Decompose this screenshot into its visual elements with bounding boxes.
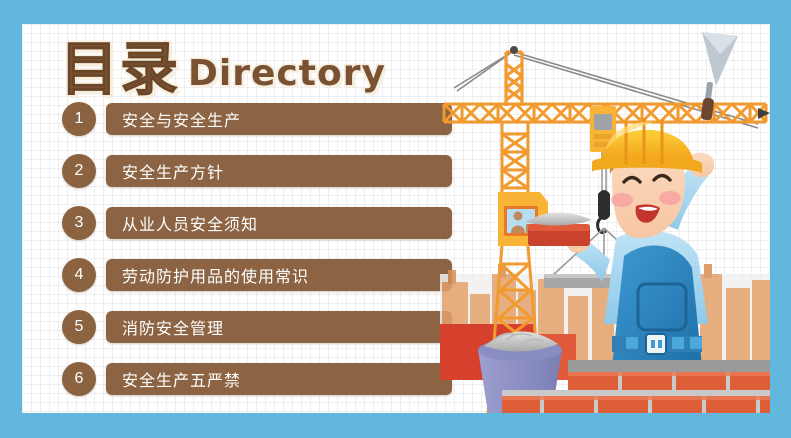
list-item[interactable]: 6 安全生产五严禁 bbox=[62, 362, 452, 396]
crane-pivot bbox=[510, 46, 518, 54]
slide-canvas: 目录 Directory 1 安全与安全生产 2 安全生产方针 3 从业人员安全… bbox=[0, 0, 791, 438]
jib-tip bbox=[758, 108, 770, 119]
worker-body bbox=[604, 231, 708, 366]
grid-paper-background: 目录 Directory 1 安全与安全生产 2 安全生产方针 3 从业人员安全… bbox=[22, 24, 770, 413]
item-number-badge: 2 bbox=[62, 154, 96, 188]
list-item[interactable]: 3 从业人员安全须知 bbox=[62, 206, 452, 240]
list-item[interactable]: 5 消防安全管理 bbox=[62, 310, 452, 344]
title-chinese: 目录 bbox=[60, 40, 180, 98]
item-label-bar[interactable]: 从业人员安全须知 bbox=[106, 207, 452, 239]
item-number-badge: 4 bbox=[62, 258, 96, 292]
item-number-badge: 5 bbox=[62, 310, 96, 344]
item-label-bar[interactable]: 安全与安全生产 bbox=[106, 103, 452, 135]
item-number-badge: 6 bbox=[62, 362, 96, 396]
list-item[interactable]: 1 安全与安全生产 bbox=[62, 102, 452, 136]
list-item[interactable]: 4 劳动防护用品的使用常识 bbox=[62, 258, 452, 292]
construction-illustration bbox=[440, 24, 770, 413]
item-number-badge: 1 bbox=[62, 102, 96, 136]
item-label-bar[interactable]: 安全生产五严禁 bbox=[106, 363, 452, 395]
item-number-badge: 3 bbox=[62, 206, 96, 240]
directory-list: 1 安全与安全生产 2 安全生产方针 3 从业人员安全须知 4 劳动防护用品的使… bbox=[62, 102, 452, 413]
item-label-bar[interactable]: 消防安全管理 bbox=[106, 311, 452, 343]
item-label-bar[interactable]: 安全生产方针 bbox=[106, 155, 452, 187]
crane-mast-head bbox=[506, 52, 522, 106]
page-title: 目录 Directory bbox=[60, 40, 386, 98]
item-label-bar[interactable]: 劳动防护用品的使用常识 bbox=[106, 259, 452, 291]
brick bbox=[526, 212, 592, 246]
title-english: Directory bbox=[188, 54, 386, 94]
list-item[interactable]: 2 安全生产方针 bbox=[62, 154, 452, 188]
